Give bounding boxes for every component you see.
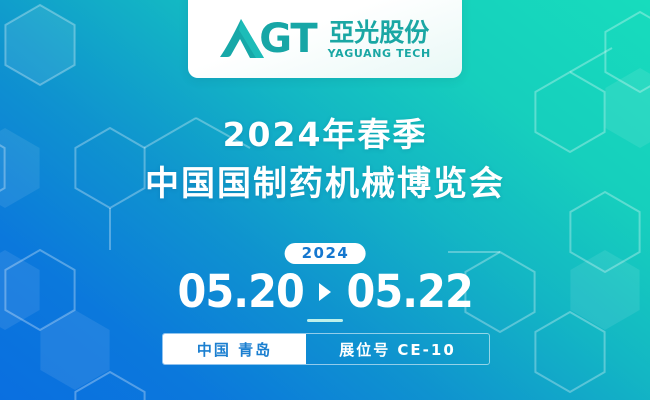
- date-end: 05.22: [346, 268, 472, 316]
- year-badge: 2024: [285, 243, 366, 264]
- headline-line-1: 2024年春季: [0, 112, 650, 158]
- company-logo-plate: GT 亞光股份 YAGUANG TECH: [188, 0, 462, 78]
- exhibition-banner: GT 亞光股份 YAGUANG TECH 2024年春季 中国国制药机械博览会 …: [0, 0, 650, 400]
- date-divider-rule: [307, 319, 343, 322]
- headline-line-2: 中国国制药机械博览会: [0, 158, 650, 210]
- date-start: 05.20: [177, 268, 303, 316]
- event-date-range: 05.20 05.22: [0, 268, 650, 316]
- event-info-bar: 中国 青岛 展位号 CE-10: [162, 333, 490, 365]
- logo-english-name: YAGUANG TECH: [328, 48, 431, 59]
- event-booth-number: 展位号 CE-10: [306, 334, 489, 364]
- play-triangle-icon: [319, 283, 331, 301]
- logo-gt-text: GT: [259, 19, 316, 59]
- logo-chinese-name: 亞光股份: [329, 20, 429, 45]
- banner-headline: 2024年春季 中国国制药机械博览会: [0, 112, 650, 210]
- agt-logo-mark: GT: [219, 18, 316, 60]
- event-location: 中国 青岛: [163, 334, 306, 364]
- logo-name-block: 亞光股份 YAGUANG TECH: [328, 20, 431, 59]
